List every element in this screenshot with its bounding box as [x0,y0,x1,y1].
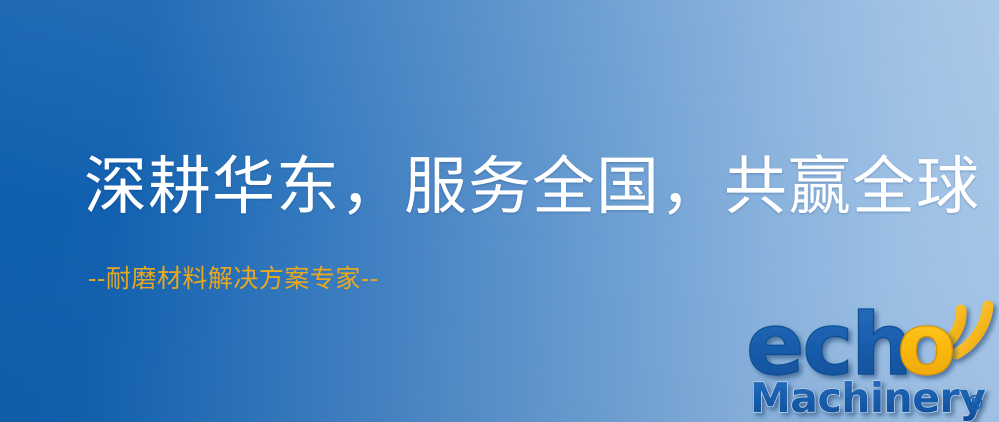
hero-banner: 深耕华东，服务全国，共赢全球 --耐磨材料解决方案专家-- [0,0,999,422]
page-subtitle: --耐磨材料解决方案专家-- [88,263,379,295]
echo-machinery-logo-graphic: ech o Machinery ® [744,292,999,422]
logo-tagline: Machinery ® [750,374,985,422]
company-logo[interactable]: ech o Machinery ® [744,292,999,422]
svg-text:Machinery: Machinery [750,374,985,422]
page-title: 深耕华东，服务全国，共赢全球 [84,151,980,223]
svg-text:®: ® [965,391,985,415]
